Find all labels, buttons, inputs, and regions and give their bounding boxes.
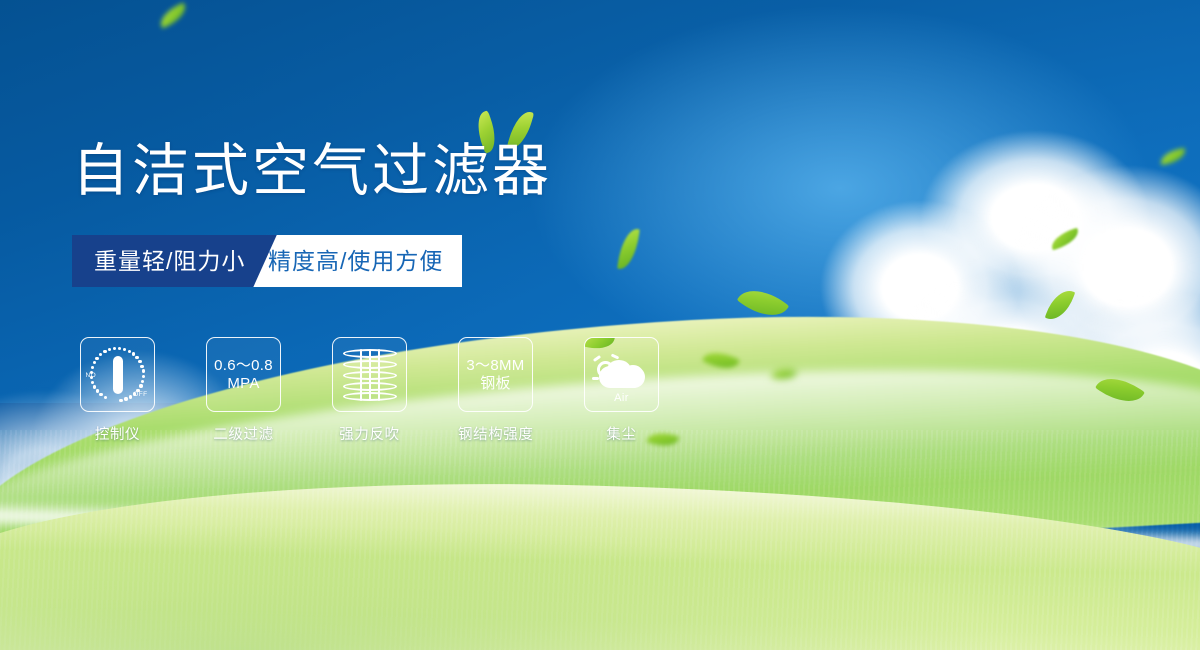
feature-label: 控制仪 bbox=[80, 423, 155, 444]
feature-item-steel-strength[interactable]: 3〜8MM 钢板 钢结构强度 bbox=[458, 337, 533, 444]
page-title: 自洁式空气过滤器 bbox=[72, 143, 552, 200]
subtitle-badge: 重量轻/阻力小 精度高/使用方便 bbox=[72, 235, 462, 287]
product-banner: 自洁式空气过滤器 重量轻/阻力小 精度高/使用方便 NO OFF 控制仪 0.6… bbox=[0, 0, 1200, 650]
feature-label: 二级过滤 bbox=[206, 423, 281, 444]
feature-list: NO OFF 控制仪 0.6〜0.8 MPA 二级过滤 bbox=[80, 337, 659, 444]
feature-item-strong-blowback[interactable]: 强力反吹 bbox=[332, 337, 407, 444]
grass-shading bbox=[0, 500, 1200, 650]
feature-tile[interactable] bbox=[332, 337, 407, 412]
gauge-dial-icon: NO OFF bbox=[87, 344, 149, 406]
steel-line-2: 钢板 bbox=[466, 375, 524, 393]
steel-text-icon: 3〜8MM 钢板 bbox=[466, 357, 524, 392]
feature-item-dust-collection[interactable]: Air 集尘 bbox=[584, 337, 659, 444]
feature-item-controller[interactable]: NO OFF 控制仪 bbox=[80, 337, 155, 444]
filter-cartridge-icon bbox=[343, 347, 397, 403]
feature-tile[interactable]: Air bbox=[584, 337, 659, 412]
feature-label: 集尘 bbox=[584, 423, 659, 444]
pressure-text-icon: 0.6〜0.8 MPA bbox=[214, 357, 273, 392]
pressure-line-1: 0.6〜0.8 bbox=[214, 357, 273, 374]
subtitle-text-right: 精度高/使用方便 bbox=[268, 235, 443, 287]
pressure-line-2: MPA bbox=[214, 375, 273, 393]
subtitle-text-left: 重量轻/阻力小 bbox=[94, 235, 245, 287]
steel-line-1: 3〜8MM bbox=[466, 357, 524, 374]
feature-label: 钢结构强度 bbox=[458, 423, 533, 444]
feature-tile[interactable]: 3〜8MM 钢板 bbox=[458, 337, 533, 412]
feature-tile[interactable]: NO OFF bbox=[80, 337, 155, 412]
feature-tile[interactable]: 0.6〜0.8 MPA bbox=[206, 337, 281, 412]
cloud-air-icon: Air bbox=[593, 348, 651, 402]
feature-label: 强力反吹 bbox=[332, 423, 407, 444]
air-label: Air bbox=[593, 392, 651, 404]
feature-item-two-stage-filter[interactable]: 0.6〜0.8 MPA 二级过滤 bbox=[206, 337, 281, 444]
